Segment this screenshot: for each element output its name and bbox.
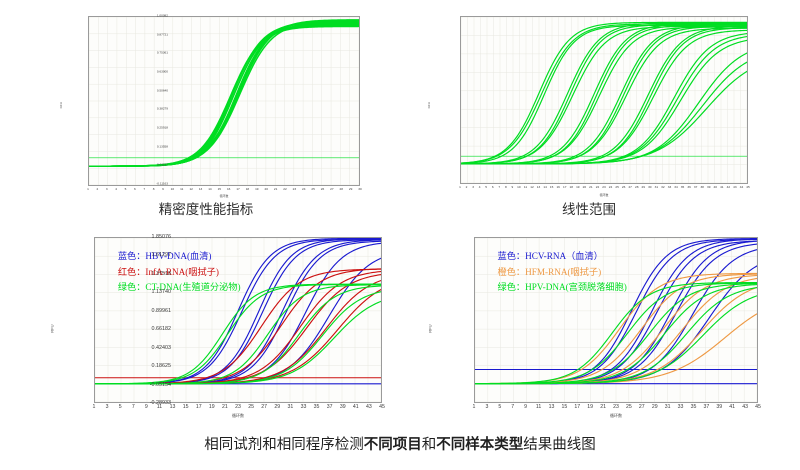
x-tick-label: 4 (479, 186, 481, 189)
main-caption-bold2: 不同样本类型 (436, 437, 523, 453)
x-tick-label: 21 (222, 404, 228, 410)
curve (89, 25, 359, 167)
x-tick-label: 5 (485, 186, 487, 189)
x-tick-label: 29 (652, 404, 658, 410)
x-tick-label: 12 (530, 186, 533, 189)
chart-precision: RFU 0.774080.687680.601280.514880.428480… (60, 8, 360, 193)
x-tick-label: 41 (353, 404, 359, 410)
x-tick-label: 29 (274, 404, 280, 410)
y-tick-label: 0.01197 (157, 164, 168, 167)
figure-grid: RFU 0.774080.687680.601280.514880.428480… (0, 0, 800, 470)
x-tick-label: 43 (742, 404, 748, 410)
x-tick-label: 23 (293, 188, 296, 191)
x-tick-label: 25 (626, 404, 632, 410)
x-tick-label: 8 (505, 186, 507, 189)
y-tick-label: 0.50640 (157, 89, 168, 92)
x-tick-label: 21 (600, 404, 606, 410)
chart-samples-legend: 蓝色：HCV-RNA（血清）橙色：HFM-RNA(咽拭子)绿色：HPV-DNA(… (498, 249, 627, 296)
x-tick-label: 45 (755, 404, 761, 410)
x-tick-label: 23 (235, 404, 241, 410)
legend-entry: 绿色：HPV-DNA(宫颈脱落细胞) (498, 280, 627, 296)
x-tick-label: 25 (311, 188, 314, 191)
caption-precision: 精密度性能指标 (159, 198, 254, 218)
x-tick-label: 26 (622, 186, 625, 189)
x-tick-label: 35 (691, 404, 697, 410)
x-tick-label: 37 (694, 186, 697, 189)
x-tick-label: 40 (714, 186, 717, 189)
x-tick-label: 13 (549, 404, 555, 410)
x-tick-label: 8 (153, 188, 155, 191)
x-tick-label: 10 (517, 186, 520, 189)
y-tick-label: 1.37518 (152, 271, 172, 277)
x-tick-label: 22 (283, 188, 286, 191)
main-caption-bold1: 不同项目 (364, 437, 422, 453)
x-tick-label: 37 (703, 404, 709, 410)
x-tick-label: 27 (639, 404, 645, 410)
curve (89, 20, 359, 166)
chart-different-items: RFU 1.808601.585831.363061.140290.917520… (52, 232, 392, 424)
curve (89, 23, 359, 167)
x-tick-label: 1 (473, 404, 476, 410)
x-tick-label: 7 (132, 404, 135, 410)
legend-entry: 绿色：CT-DNA(生殖道分泌物) (118, 280, 241, 296)
x-tick-label: 29 (642, 186, 645, 189)
y-tick-label: 0.18625 (152, 363, 172, 369)
x-tick-label: 34 (674, 186, 677, 189)
x-tick-label: 33 (668, 186, 671, 189)
x-tick-label: 14 (543, 186, 546, 189)
main-caption: 相同试剂和相同程序检测不同项目和不同样本类型结果曲线图 (204, 433, 596, 454)
x-tick-label: 32 (661, 186, 664, 189)
x-tick-label: 43 (366, 404, 372, 410)
curve (89, 23, 359, 166)
x-tick-label: 10 (171, 188, 174, 191)
chart-samples-xlabel: 循环数 (610, 413, 622, 419)
chart-linearity-yaxis: 1.000820.877210.753610.630000.506400.382… (428, 8, 458, 193)
x-tick-label: 17 (236, 188, 239, 191)
x-tick-label: 41 (729, 404, 735, 410)
curve (89, 24, 359, 166)
x-tick-label: 14 (208, 188, 211, 191)
chart-different-samples: RFU 1.850761.612971.375181.137400.899610… (428, 232, 773, 424)
x-tick-label: 7 (498, 186, 500, 189)
x-tick-label: 29 (349, 188, 352, 191)
x-tick-label: 15 (218, 188, 221, 191)
x-tick-label: 11 (536, 404, 541, 410)
curve (89, 26, 359, 166)
y-tick-label: -0.28933 (150, 400, 171, 406)
x-tick-label: 9 (524, 404, 527, 410)
chart-samples-plot: 蓝色：HCV-RNA（血清）橙色：HFM-RNA(咽拭子)绿色：HPV-DNA(… (474, 237, 758, 403)
chart-linearity-plot (460, 16, 748, 184)
y-tick-label: 0.63000 (157, 70, 168, 73)
x-tick-label: 20 (264, 188, 267, 191)
x-tick-label: 25 (615, 186, 618, 189)
x-tick-label: 31 (287, 404, 293, 410)
curve (89, 21, 359, 166)
x-tick-label: 11 (180, 188, 183, 191)
x-tick-label: 35 (314, 404, 320, 410)
x-tick-label: 44 (740, 186, 743, 189)
x-tick-label: 9 (145, 404, 148, 410)
y-tick-label: 0.42403 (152, 345, 172, 351)
chart-items-plot: 蓝色：HBV-DNA(血清)红色：InfA-RNA(咽拭子)绿色：CT-DNA(… (94, 237, 382, 403)
chart-items-legend: 蓝色：HBV-DNA(血清)红色：InfA-RNA(咽拭子)绿色：CT-DNA(… (118, 249, 241, 296)
x-tick-label: 6 (134, 188, 136, 191)
x-tick-label: 3 (472, 186, 474, 189)
y-tick-label: 0.89961 (152, 308, 172, 314)
x-tick-label: 24 (302, 188, 305, 191)
y-tick-label: 1.00082 (157, 14, 168, 17)
x-tick-label: 7 (511, 404, 514, 410)
x-tick-label: 31 (655, 186, 658, 189)
legend-entry: 蓝色：HBV-DNA(血清) (118, 249, 241, 265)
x-tick-label: 7 (143, 188, 145, 191)
x-tick-label: 28 (340, 188, 343, 191)
x-tick-label: 15 (550, 186, 553, 189)
x-tick-label: 20 (583, 186, 586, 189)
x-tick-label: 24 (609, 186, 612, 189)
x-tick-label: 16 (227, 188, 230, 191)
x-tick-label: 26 (321, 188, 324, 191)
chart-samples-yaxis: 1.850761.612971.375181.137400.899610.661… (428, 232, 472, 424)
legend-entry: 橙色：HFM-RNA(咽拭子) (498, 265, 627, 281)
x-tick-label: 9 (511, 186, 513, 189)
chart-linearity: RFU 1.000820.877210.753610.630000.506400… (428, 8, 748, 193)
x-tick-label: 18 (570, 186, 573, 189)
x-tick-label: 33 (301, 404, 307, 410)
chart-linearity-xlabel: 循环数 (600, 193, 609, 197)
x-tick-label: 17 (196, 404, 202, 410)
y-tick-label: 0.25918 (157, 126, 168, 129)
x-tick-label: 5 (119, 404, 122, 410)
x-tick-label: 42 (727, 186, 730, 189)
legend-entry: 红色：InfA-RNA(咽拭子) (118, 265, 241, 281)
x-tick-label: 4 (115, 188, 117, 191)
caption-linearity: 线性范围 (562, 198, 616, 218)
curve (89, 21, 359, 166)
x-tick-label: 18 (246, 188, 249, 191)
x-tick-label: 13 (537, 186, 540, 189)
x-tick-label: 3 (106, 188, 108, 191)
x-tick-label: 39 (340, 404, 346, 410)
x-tick-label: 19 (255, 188, 258, 191)
y-tick-label: 0.87721 (157, 33, 168, 36)
main-caption-part2: 结果曲线图 (523, 437, 596, 453)
x-tick-label: 1 (459, 186, 461, 189)
x-tick-label: 30 (358, 188, 361, 191)
curve (89, 22, 359, 166)
curve (89, 26, 359, 167)
x-tick-label: 19 (587, 404, 593, 410)
x-tick-label: 36 (687, 186, 690, 189)
x-tick-label: 23 (613, 404, 619, 410)
x-tick-label: 23 (602, 186, 605, 189)
x-tick-label: 33 (678, 404, 684, 410)
y-tick-label: 1.13740 (152, 289, 172, 295)
x-tick-label: 2 (97, 188, 99, 191)
x-tick-label: 39 (707, 186, 710, 189)
x-tick-label: 1 (93, 404, 96, 410)
x-tick-label: 45 (379, 404, 385, 410)
x-tick-label: 25 (248, 404, 254, 410)
x-tick-label: 27 (628, 186, 631, 189)
x-tick-label: 41 (720, 186, 723, 189)
x-tick-label: 30 (648, 186, 651, 189)
chart-precision-plot (88, 16, 360, 186)
main-caption-mid: 和 (422, 437, 437, 453)
x-tick-label: 5 (125, 188, 127, 191)
x-tick-label: 38 (700, 186, 703, 189)
x-tick-label: 11 (524, 186, 527, 189)
main-caption-part1: 相同试剂和相同程序检测 (204, 437, 364, 453)
y-tick-label: -0.11163 (156, 182, 168, 185)
x-tick-label: 17 (574, 404, 580, 410)
legend-entry: 蓝色：HCV-RNA（血清） (498, 249, 627, 265)
y-tick-label: 0.75361 (157, 52, 168, 55)
chart-precision-yaxis: 0.774080.687680.601280.514880.428480.342… (60, 8, 86, 193)
x-tick-label: 5 (498, 404, 501, 410)
x-tick-label: 12 (189, 188, 192, 191)
y-tick-label: 1.85076 (152, 234, 172, 240)
x-tick-label: 6 (492, 186, 494, 189)
x-tick-label: 13 (199, 188, 202, 191)
y-tick-label: -0.05154 (150, 382, 171, 388)
x-tick-label: 27 (330, 188, 333, 191)
x-tick-label: 21 (274, 188, 277, 191)
x-tick-label: 2 (466, 186, 468, 189)
x-tick-label: 22 (596, 186, 599, 189)
x-tick-label: 16 (556, 186, 559, 189)
x-tick-label: 17 (563, 186, 566, 189)
x-tick-label: 19 (209, 404, 215, 410)
x-tick-label: 3 (485, 404, 488, 410)
x-tick-label: 15 (183, 404, 189, 410)
x-tick-label: 9 (162, 188, 164, 191)
y-tick-label: 0.66182 (152, 326, 172, 332)
x-tick-label: 31 (665, 404, 671, 410)
x-tick-label: 1 (87, 188, 89, 191)
x-tick-label: 28 (635, 186, 638, 189)
x-tick-label: 45 (746, 186, 749, 189)
x-tick-label: 37 (327, 404, 333, 410)
x-tick-label: 15 (561, 404, 567, 410)
x-tick-label: 3 (106, 404, 109, 410)
x-tick-label: 43 (733, 186, 736, 189)
chart-items-yaxis: 1.808601.585831.363061.140290.917520.694… (52, 232, 92, 424)
x-tick-label: 21 (589, 186, 592, 189)
y-tick-label: 0.13558 (157, 145, 168, 148)
x-tick-label: 27 (261, 404, 267, 410)
y-tick-label: 1.61297 (152, 252, 172, 258)
x-tick-label: 35 (681, 186, 684, 189)
x-tick-label: 19 (576, 186, 579, 189)
chart-items-xlabel: 循环数 (232, 413, 244, 419)
y-tick-label: 0.38279 (157, 108, 168, 111)
x-tick-label: 39 (716, 404, 722, 410)
